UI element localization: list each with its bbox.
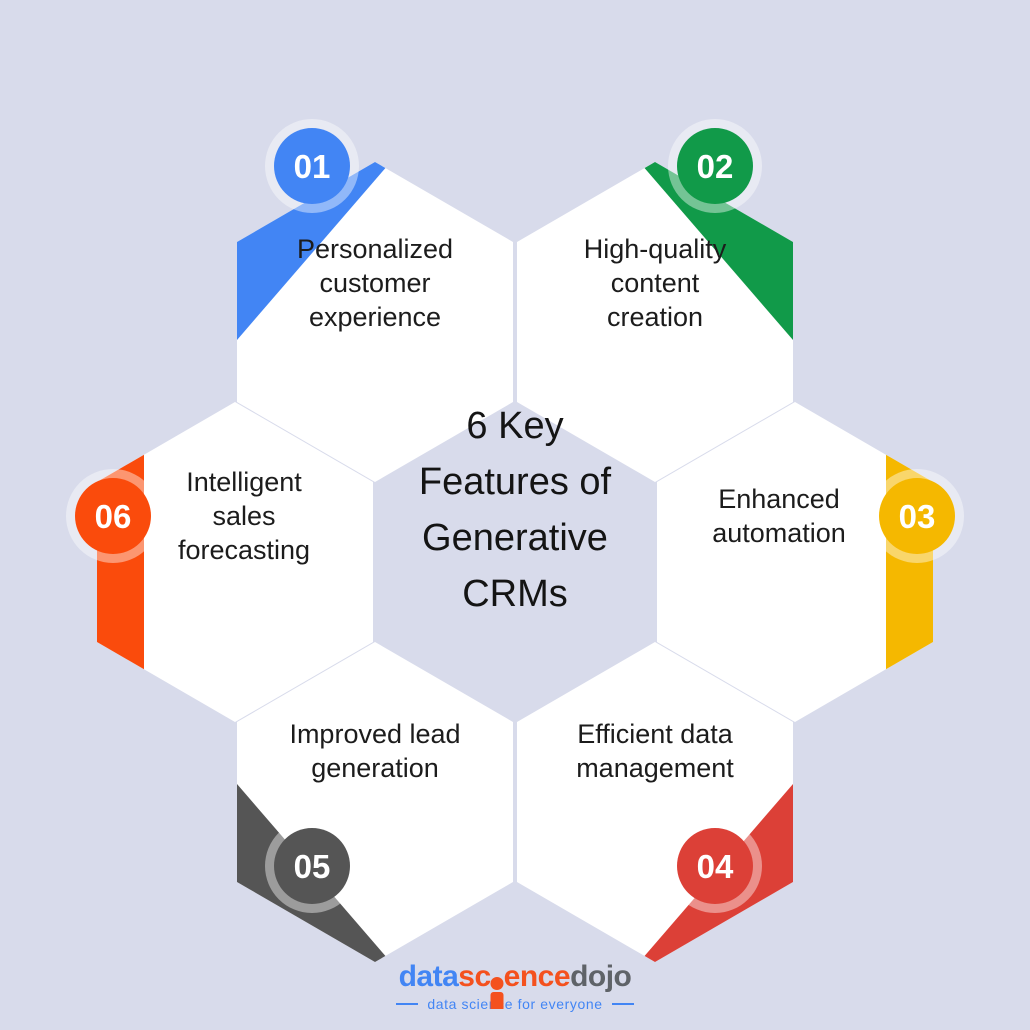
logo-text-ence: ence: [504, 960, 570, 993]
logo-tagline: data science for everyone: [0, 996, 1030, 1012]
badge-number-02: 02: [697, 148, 734, 185]
infographic-canvas: 01 02 03: [0, 0, 1030, 1030]
badge-number-05: 05: [294, 848, 331, 885]
badge-number-03: 03: [899, 498, 936, 535]
logo-text-dojo: dojo: [570, 960, 631, 993]
tagline-dash-left: [396, 1003, 418, 1005]
brand-logo[interactable]: datascencedojo data science for everyone: [0, 960, 1030, 1012]
logo-wordmark: datascencedojo: [399, 960, 632, 994]
badge-number-04: 04: [697, 848, 734, 885]
logo-text-sc: sc: [458, 960, 490, 993]
center-title: 6 Key Features of Generative CRMs: [395, 398, 635, 622]
badge-number-06: 06: [95, 498, 132, 535]
tagline-dash-right: [612, 1003, 634, 1005]
badge-number-01: 01: [294, 148, 331, 185]
tagline-text: data science for everyone: [427, 996, 602, 1012]
logo-text-data: data: [399, 960, 459, 993]
